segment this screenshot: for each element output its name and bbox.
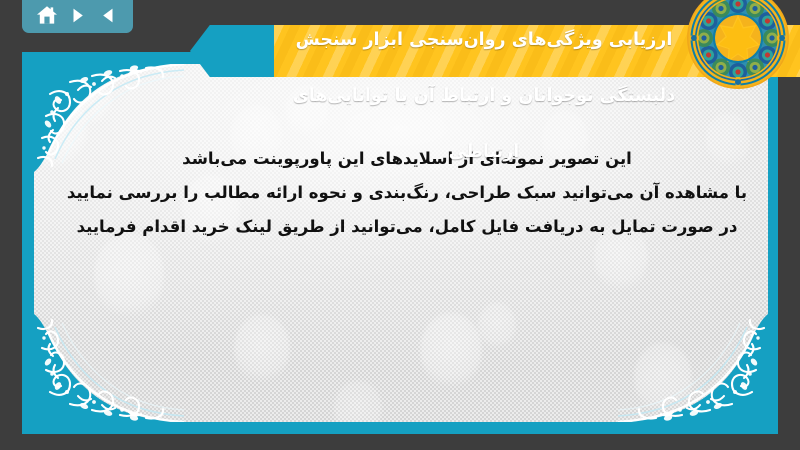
next-slide-button[interactable] xyxy=(65,3,91,27)
title-line: دلبستگی نوجوانان و ارتباط آن با توانایی‌… xyxy=(190,82,778,110)
home-icon xyxy=(36,5,58,25)
page-title: ارزیابی ویژگی‌های روان‌سنجی ابزار سنجش د… xyxy=(190,0,778,194)
bokeh-circle xyxy=(60,72,112,124)
home-button[interactable] xyxy=(34,3,60,27)
bokeh-circle xyxy=(420,312,482,390)
title-banner: ارزیابی ویژگی‌های روان‌سنجی ابزار سنجش د… xyxy=(190,0,800,88)
triangle-left-icon xyxy=(99,6,118,25)
body-line: در صورت تمایل به دریافت فایل کامل، می‌تو… xyxy=(64,210,750,244)
bokeh-circle xyxy=(234,314,290,384)
triangle-right-icon xyxy=(68,6,87,25)
bokeh-circle xyxy=(478,302,516,350)
bokeh-circle xyxy=(94,232,164,320)
title-line: ارتباطی xyxy=(190,138,778,166)
slide-stage: این تصویر نمونه‌ای از اسلایدهای این پاور… xyxy=(0,0,800,450)
title-line: ارزیابی ویژگی‌های روان‌سنجی ابزار سنجش xyxy=(190,26,778,54)
previous-slide-button[interactable] xyxy=(96,3,122,27)
bokeh-circle xyxy=(634,342,692,414)
slide-navigation-panel xyxy=(22,0,133,33)
